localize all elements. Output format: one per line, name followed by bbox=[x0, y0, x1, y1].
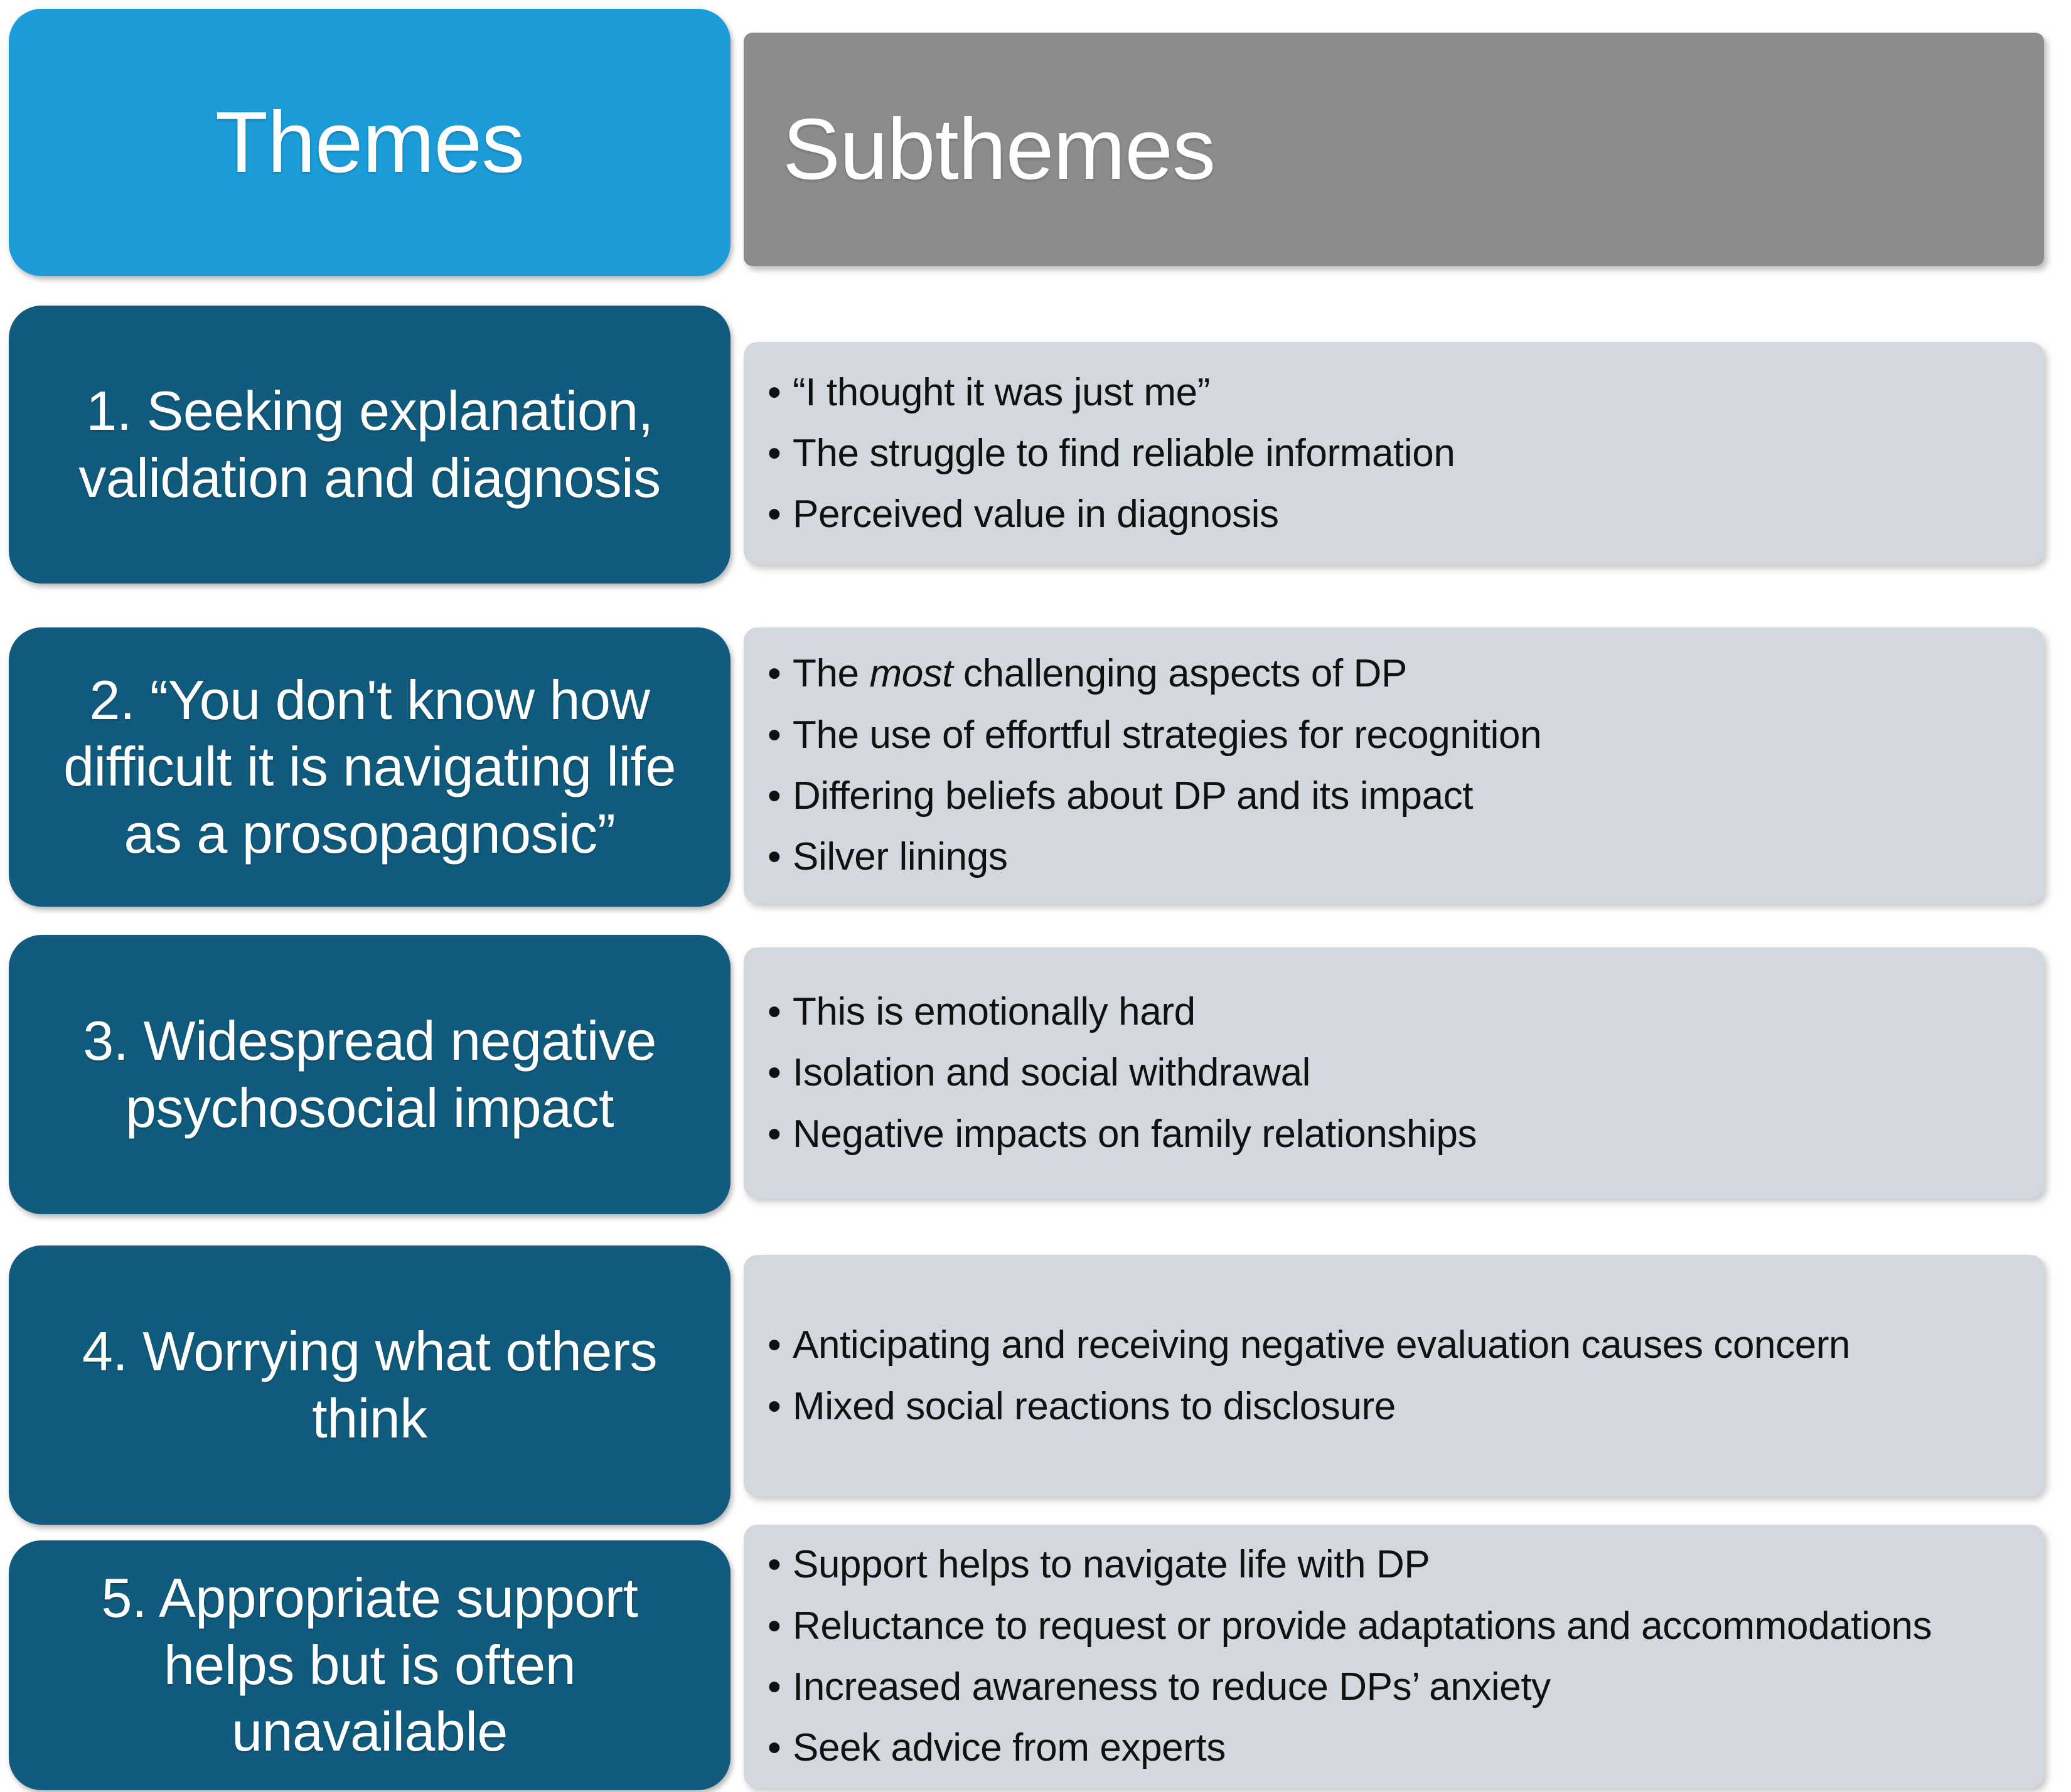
subtheme-list-item: • Reluctance to request or provide adapt… bbox=[768, 1596, 2013, 1656]
subtheme-list-3: • This is emotionally hard • Isolation a… bbox=[768, 981, 2013, 1165]
subtheme-text: Anticipating and receiving negative eval… bbox=[793, 1323, 1850, 1367]
subtheme-text: This is emotionally hard bbox=[793, 990, 1196, 1033]
bullet-icon: • bbox=[768, 1042, 781, 1103]
bullet-icon: • bbox=[768, 1596, 781, 1656]
bullet-icon: • bbox=[768, 1376, 781, 1437]
bullet-icon: • bbox=[768, 1104, 781, 1165]
subtheme-list-item: • The struggle to find reliable informat… bbox=[768, 423, 2013, 484]
column-header-subthemes-label: Subthemes bbox=[783, 104, 1215, 195]
subtheme-list-item: • Silver linings bbox=[768, 826, 2013, 887]
subtheme-text: Support helps to navigate life with DP bbox=[793, 1543, 1430, 1586]
subtheme-text: Differing beliefs about DP and its impac… bbox=[793, 774, 1473, 818]
subtheme-list-item: • Mixed social reactions to disclosure bbox=[768, 1376, 2013, 1437]
bullet-icon: • bbox=[768, 643, 781, 704]
subtheme-list-1: • “I thought it was just me” • The strug… bbox=[768, 362, 2013, 545]
bullet-icon: • bbox=[768, 1656, 781, 1717]
subtheme-text: The most challenging aspects of DP bbox=[793, 652, 1407, 695]
subtheme-text: Seek advice from experts bbox=[793, 1726, 1226, 1769]
column-header-themes-label: Themes bbox=[215, 97, 525, 188]
theme-label-2: 2. “You don't know how difficult it is n… bbox=[34, 667, 705, 867]
subtheme-text: Silver linings bbox=[793, 835, 1007, 878]
bullet-icon: • bbox=[768, 484, 781, 545]
subtheme-list-item: • The most challenging aspects of DP bbox=[768, 643, 2013, 704]
subtheme-list-item: • Perceived value in diagnosis bbox=[768, 484, 2013, 545]
subtheme-text: Increased awareness to reduce DPs’ anxie… bbox=[793, 1665, 1551, 1709]
subtheme-box-1: • “I thought it was just me” • The strug… bbox=[744, 342, 2044, 565]
subtheme-box-3: • This is emotionally hard • Isolation a… bbox=[744, 947, 2044, 1198]
subtheme-list-item: • The use of effortful strategies for re… bbox=[768, 705, 2013, 765]
subtheme-list-4: • Anticipating and receiving negative ev… bbox=[768, 1315, 2013, 1437]
subtheme-list-item: • This is emotionally hard bbox=[768, 981, 2013, 1042]
bullet-icon: • bbox=[768, 1717, 781, 1778]
subtheme-list-item: • Seek advice from experts bbox=[768, 1717, 2013, 1778]
subtheme-list-item: • Negative impacts on family relationshi… bbox=[768, 1104, 2013, 1165]
bullet-icon: • bbox=[768, 1315, 781, 1375]
bullet-icon: • bbox=[768, 981, 781, 1042]
theme-label-4: 4. Worrying what others think bbox=[34, 1318, 705, 1452]
subtheme-list-2: • The most challenging aspects of DP • T… bbox=[768, 643, 2013, 887]
theme-label-5: 5. Appropriate support helps but is ofte… bbox=[34, 1565, 705, 1765]
theme-box-4: 4. Worrying what others think bbox=[9, 1245, 730, 1525]
bullet-icon: • bbox=[768, 705, 781, 765]
bullet-icon: • bbox=[768, 826, 781, 887]
subtheme-text: Reluctance to request or provide adaptat… bbox=[793, 1604, 1932, 1648]
subtheme-text: Mixed social reactions to disclosure bbox=[793, 1385, 1396, 1428]
bullet-icon: • bbox=[768, 765, 781, 826]
subtheme-text: Isolation and social withdrawal bbox=[793, 1051, 1310, 1094]
theme-box-5: 5. Appropriate support helps but is ofte… bbox=[9, 1540, 730, 1790]
theme-label-1: 1. Seeking explanation, validation and d… bbox=[34, 378, 705, 511]
subtheme-text: The struggle to find reliable informatio… bbox=[793, 432, 1455, 475]
subtheme-box-5: • Support helps to navigate life with DP… bbox=[744, 1525, 2044, 1788]
theme-box-3: 3. Widespread negative psychosocial impa… bbox=[9, 935, 730, 1214]
subtheme-list-item: • Increased awareness to reduce DPs’ anx… bbox=[768, 1656, 2013, 1717]
theme-box-2: 2. “You don't know how difficult it is n… bbox=[9, 627, 730, 907]
figure-canvas: Themes Subthemes 1. Seeking explanation,… bbox=[0, 0, 2071, 1792]
column-header-subthemes: Subthemes bbox=[744, 33, 2044, 266]
subtheme-box-2: • The most challenging aspects of DP • T… bbox=[744, 627, 2044, 904]
subtheme-list-item: • Differing beliefs about DP and its imp… bbox=[768, 765, 2013, 826]
column-header-themes: Themes bbox=[9, 9, 730, 276]
subtheme-text: Negative impacts on family relationships bbox=[793, 1112, 1477, 1156]
bullet-icon: • bbox=[768, 1534, 781, 1595]
subtheme-text: “I thought it was just me” bbox=[793, 371, 1210, 414]
subtheme-list-item: • Anticipating and receiving negative ev… bbox=[768, 1315, 2013, 1375]
theme-box-1: 1. Seeking explanation, validation and d… bbox=[9, 306, 730, 584]
bullet-icon: • bbox=[768, 362, 781, 423]
subtheme-list-5: • Support helps to navigate life with DP… bbox=[768, 1534, 2013, 1778]
subtheme-list-item: • “I thought it was just me” bbox=[768, 362, 2013, 423]
theme-label-3: 3. Widespread negative psychosocial impa… bbox=[34, 1008, 705, 1141]
subtheme-list-item: • Isolation and social withdrawal bbox=[768, 1042, 2013, 1103]
subtheme-box-4: • Anticipating and receiving negative ev… bbox=[744, 1255, 2044, 1496]
bullet-icon: • bbox=[768, 423, 781, 484]
subtheme-text: The use of effortful strategies for reco… bbox=[793, 713, 1541, 757]
subtheme-text: Perceived value in diagnosis bbox=[793, 493, 1279, 536]
subtheme-list-item: • Support helps to navigate life with DP bbox=[768, 1534, 2013, 1595]
